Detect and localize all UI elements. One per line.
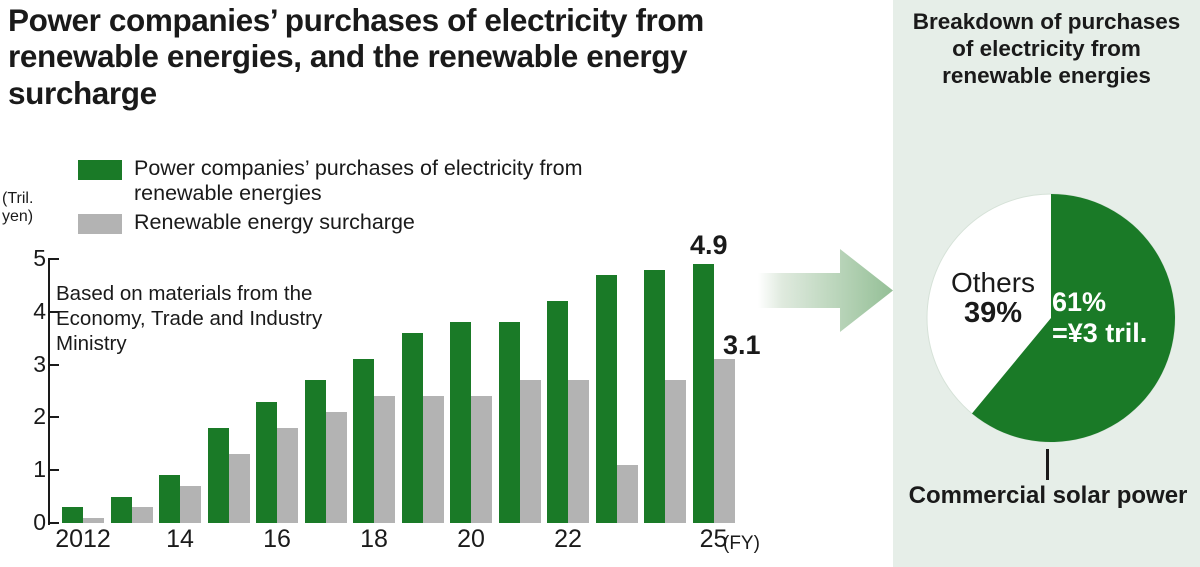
value-label-green-2025: 4.9 [690, 230, 728, 261]
others-percent: 39% [938, 298, 1048, 329]
bar-2013-purchases [111, 497, 132, 523]
bar-2012-surcharge [83, 518, 104, 523]
y-axis-tick-label: 0 [6, 511, 46, 534]
bar-2023-surcharge [617, 465, 638, 523]
bar-2014-purchases [159, 475, 180, 523]
pie-label-others: Others 39% [938, 268, 1048, 330]
y-axis-tick-label: 4 [6, 300, 46, 323]
green-amount: =¥3 tril. [1052, 318, 1192, 349]
y-axis-tick-label: 3 [6, 353, 46, 376]
bar-2020-purchases [450, 322, 471, 523]
bar-2014-surcharge [180, 486, 201, 523]
bar-2024-purchases [644, 270, 665, 523]
y-axis-tick-labels: 012345 [0, 0, 46, 567]
bar-2021-purchases [499, 322, 520, 523]
x-axis-tick-label: 20 [457, 527, 485, 552]
bar-2022-surcharge [568, 380, 589, 523]
others-name: Others [951, 267, 1035, 298]
bar-2018-purchases [353, 359, 374, 523]
pie-panel-title: Breakdown of purchases of electricity fr… [903, 8, 1190, 89]
y-axis-tick [48, 416, 59, 418]
bar-2015-purchases [208, 428, 229, 523]
x-axis-tick-label: 16 [263, 527, 291, 552]
y-axis-tick [48, 364, 59, 366]
y-axis-tick [48, 258, 59, 260]
bar-2019-surcharge [423, 396, 444, 523]
bar-2020-surcharge [471, 396, 492, 523]
plot-area: 012345 2012141618202225 (FY) 4.9 3.1 [0, 0, 890, 567]
value-label-gray-2025: 3.1 [723, 330, 761, 361]
x-axis-tick-label: 2012 [55, 527, 111, 552]
y-axis-tick-label: 2 [6, 405, 46, 428]
bar-2017-surcharge [326, 412, 347, 523]
x-axis-tick-label: 22 [554, 527, 582, 552]
x-axis-unit-label: (FY) [723, 533, 760, 555]
bar-chart-panel: Power companies’ purchases of electricit… [0, 0, 890, 567]
y-axis-tick [48, 311, 59, 313]
bar-2012-purchases [62, 507, 83, 523]
infographic-root: Power companies’ purchases of electricit… [0, 0, 1200, 567]
bar-2021-surcharge [520, 380, 541, 523]
arrow-icon [758, 243, 893, 338]
y-axis-tick-label: 1 [6, 458, 46, 481]
green-percent: 61% [1052, 287, 1192, 318]
bar-2015-surcharge [229, 454, 250, 523]
bar-series-group [50, 0, 770, 523]
y-axis-tick [48, 469, 59, 471]
bar-2025-purchases [693, 264, 714, 523]
bar-2016-surcharge [277, 428, 298, 523]
bar-2025-surcharge [714, 359, 735, 523]
pie-bottom-label: Commercial solar power [903, 482, 1193, 510]
bar-2019-purchases [402, 333, 423, 523]
pie-label-commercial-solar: 61% =¥3 tril. [1052, 287, 1192, 349]
bar-2022-purchases [547, 301, 568, 523]
leader-line [1046, 449, 1049, 480]
x-axis-tick-label: 18 [360, 527, 388, 552]
y-axis-tick-label: 5 [6, 247, 46, 270]
bar-2017-purchases [305, 380, 326, 523]
bar-2023-purchases [596, 275, 617, 523]
bar-2013-surcharge [132, 507, 153, 523]
x-axis-tick-label: 14 [166, 527, 194, 552]
bar-2016-purchases [256, 402, 277, 523]
bar-2018-surcharge [374, 396, 395, 523]
bar-2024-surcharge [665, 380, 686, 523]
y-axis-tick [48, 522, 59, 524]
